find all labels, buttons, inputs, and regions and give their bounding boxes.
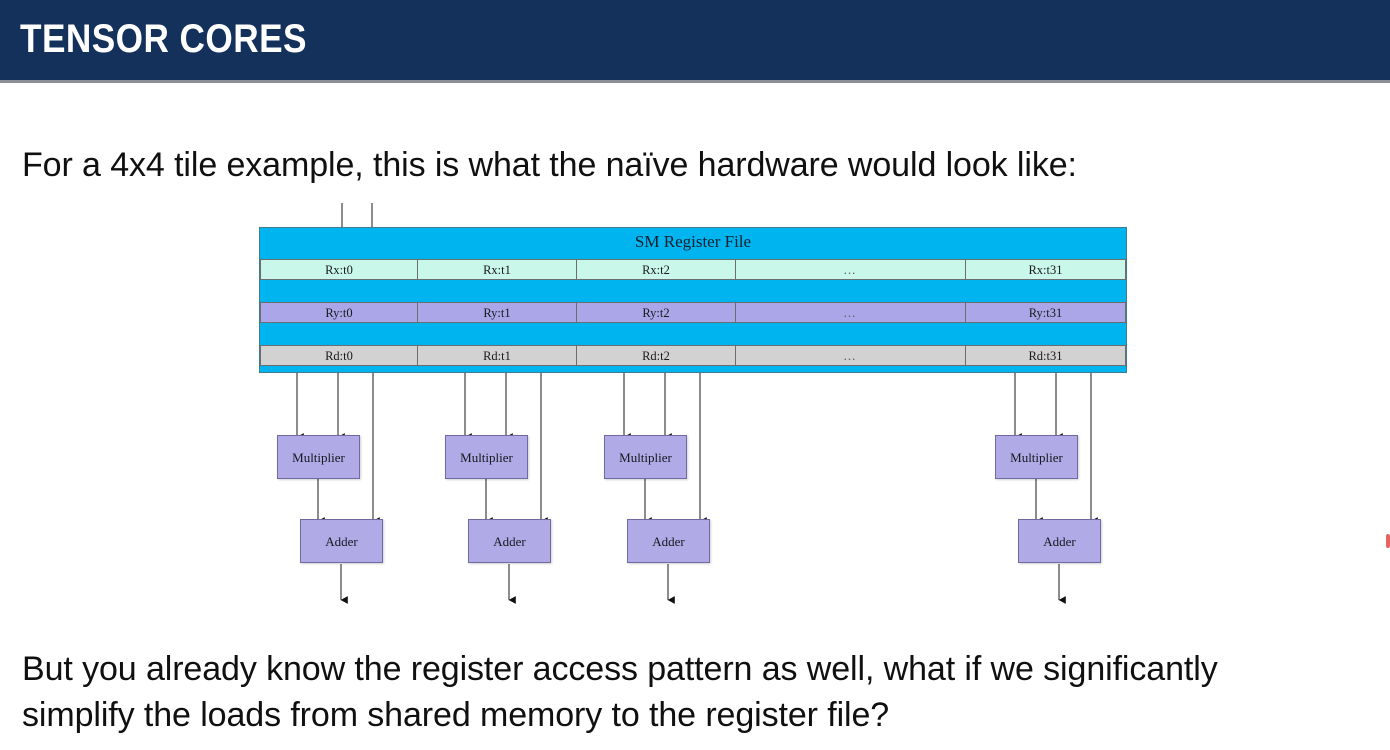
register-file-title: SM Register File (260, 228, 1126, 256)
register-cell: Rx:t1 (417, 259, 577, 280)
multiplier-box: Multiplier (604, 435, 687, 479)
outro-paragraph-line2: simplify the loads from shared memory to… (22, 696, 889, 735)
register-cell: Rd:t2 (576, 345, 736, 366)
register-cell: Ry:t2 (576, 302, 736, 323)
register-cell: Ry:t1 (417, 302, 577, 323)
adder-box: Adder (468, 519, 551, 563)
register-cell: Rd:t31 (965, 345, 1126, 366)
register-cell: Ry:t31 (965, 302, 1126, 323)
adder-box: Adder (1018, 519, 1101, 563)
outro-paragraph-line1: But you already know the register access… (22, 650, 1218, 689)
multiplier-box: Multiplier (995, 435, 1078, 479)
diagram-connectors (0, 0, 1390, 750)
register-cell: Rd:t1 (417, 345, 577, 366)
multiplier-box: Multiplier (445, 435, 528, 479)
slide-root: TENSOR CORES For a 4x4 tile example, thi… (0, 0, 1390, 750)
register-cell: Ry:t0 (260, 302, 418, 323)
register-cell: Rx:t0 (260, 259, 418, 280)
register-cell: Rd:t0 (260, 345, 418, 366)
multiplier-box: Multiplier (277, 435, 360, 479)
register-cell-ellipsis: … (735, 345, 966, 366)
register-cell: Rx:t2 (576, 259, 736, 280)
right-edge-marker (1386, 534, 1390, 548)
adder-box: Adder (300, 519, 383, 563)
register-cell-ellipsis: … (735, 302, 966, 323)
register-row-rd: Rd:t0 Rd:t1 Rd:t2 … Rd:t31 (260, 345, 1128, 366)
naive-hardware-diagram: SM Register File Rx:t0 Rx:t1 Rx:t2 … Rx:… (0, 0, 1390, 750)
sm-register-file: SM Register File Rx:t0 Rx:t1 Rx:t2 … Rx:… (259, 227, 1127, 373)
register-row-rx: Rx:t0 Rx:t1 Rx:t2 … Rx:t31 (260, 259, 1128, 280)
register-cell: Rx:t31 (965, 259, 1126, 280)
adder-box: Adder (627, 519, 710, 563)
register-row-ry: Ry:t0 Ry:t1 Ry:t2 … Ry:t31 (260, 302, 1128, 323)
register-cell-ellipsis: … (735, 259, 966, 280)
